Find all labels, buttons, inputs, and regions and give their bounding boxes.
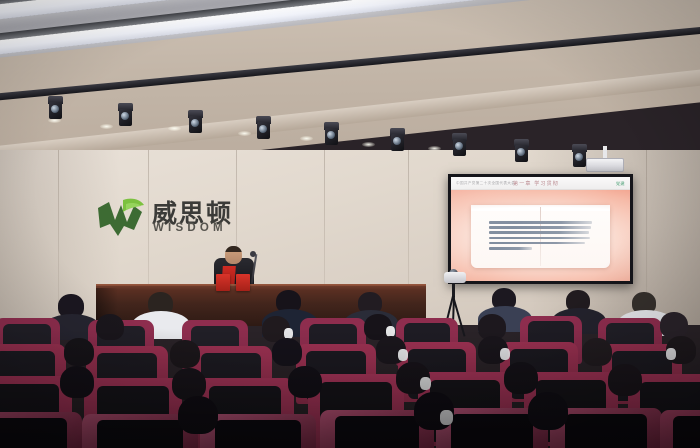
audience-head <box>96 314 124 340</box>
audience-head <box>608 364 642 396</box>
stage-light-fixture <box>118 103 133 129</box>
stage-light-fixture <box>390 128 405 154</box>
slide-book-graphic <box>471 205 611 269</box>
audience-head <box>64 338 94 366</box>
face-mask <box>666 348 676 360</box>
face-mask <box>398 349 408 361</box>
slide-body <box>451 190 630 281</box>
stage-light-fixture <box>514 139 529 165</box>
projection-screen: 中国共产党第二十次全国代表大会 第一章 学习贯彻 党建 <box>448 174 633 284</box>
face-mask <box>440 410 453 425</box>
video-camera <box>444 272 466 283</box>
face-mask <box>500 348 510 360</box>
wisdom-w-mark-icon <box>96 196 148 242</box>
slide-header-title: 第一章 学习贯彻 <box>513 180 559 187</box>
audience-head <box>60 366 94 398</box>
audience-head <box>528 392 568 430</box>
stage-light-fixture <box>452 133 467 159</box>
slide-header-left-text: 中国共产党第二十次全国代表大会 <box>456 181 515 186</box>
stage-light-fixture <box>48 96 63 122</box>
microphone-head-icon <box>250 251 256 257</box>
slide-header-logo: 党建 <box>616 181 625 187</box>
conference-hall-photo: PROJ 威思顿 WISDOM 中国共产党第二十次全国代表大会 第一章 学习贯彻… <box>0 0 700 448</box>
speaker-head <box>225 246 242 264</box>
company-logo: 威思顿 WISDOM <box>96 192 246 248</box>
audience-head <box>582 338 612 366</box>
stage-light-fixture <box>188 110 203 136</box>
audience-head <box>504 362 538 394</box>
audience-head <box>660 312 688 338</box>
stage-light-fixture <box>256 116 271 142</box>
slide-header-bar: 中国共产党第二十次全国代表大会 第一章 学习贯彻 党建 <box>451 177 630 190</box>
auditorium-seat <box>0 412 82 448</box>
auditorium-seat <box>660 410 700 448</box>
audience-area <box>0 288 700 448</box>
stage-light-fixture <box>572 144 587 170</box>
face-mask <box>420 377 431 390</box>
screen-surface: 中国共产党第二十次全国代表大会 第一章 学习贯彻 党建 <box>451 177 630 281</box>
projector: PROJ <box>586 158 624 172</box>
stage-light-fixture <box>324 122 339 148</box>
slide-body-text <box>489 221 592 252</box>
audience-head <box>272 338 302 366</box>
audience-head <box>178 396 218 434</box>
audience-head <box>288 366 322 398</box>
logo-text-english: WISDOM <box>153 222 227 234</box>
audience-head <box>170 340 200 368</box>
